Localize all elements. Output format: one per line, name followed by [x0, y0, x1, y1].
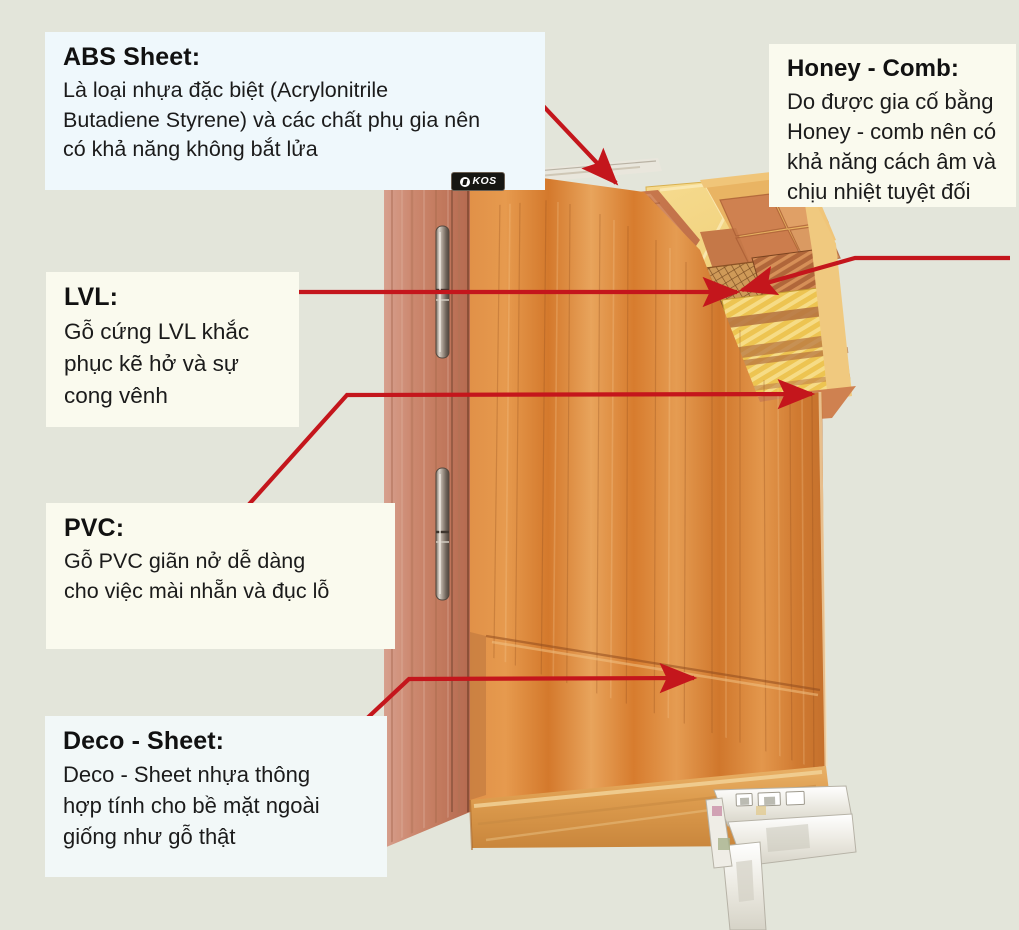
diagram-canvas: KOS ABS Sheet: Là loại nhựa đặc biệt (Ac… [0, 0, 1019, 930]
callout-honey-comb: Honey - Comb: Do được gia cố bằng Honey … [769, 44, 1016, 207]
callout-abs-body: Là loại nhựa đặc biệt (Acrylonitrile But… [63, 76, 529, 164]
callout-deco-sheet: Deco - Sheet: Deco - Sheet nhựa thông hợ… [45, 716, 387, 877]
callout-pvc: PVC: Gỗ PVC giãn nở dễ dàng cho việc mài… [46, 503, 395, 649]
callout-lvl-line-3: cong vênh [64, 380, 283, 412]
callout-pvc-line-1: Gỗ PVC giãn nở dễ dàng [64, 547, 379, 576]
callout-honey-line-3: khả năng cách âm và [787, 147, 1000, 177]
callout-honey-body: Do được gia cố bằng Honey - comb nên có … [787, 87, 1000, 207]
callout-deco-body: Deco - Sheet nhựa thông hợp tính cho bề … [63, 760, 371, 852]
callout-honey-line-4: chịu nhiệt tuyệt đối [787, 177, 1000, 207]
callout-abs-title: ABS Sheet: [63, 42, 529, 73]
pvc-threshold-profile [706, 786, 856, 930]
callout-honey-line-2: Honey - comb nên có [787, 117, 1000, 147]
callout-lvl: LVL: Gỗ cứng LVL khắc phục kẽ hở và sự c… [46, 272, 299, 427]
kos-brand-badge: KOS [452, 173, 504, 190]
callout-honey-line-1: Do được gia cố bằng [787, 87, 1000, 117]
callout-deco-line-2: hợp tính cho bề mặt ngoài [63, 791, 371, 822]
callout-abs-sheet: ABS Sheet: Là loại nhựa đặc biệt (Acrylo… [45, 32, 545, 190]
callout-honey-title: Honey - Comb: [787, 54, 1000, 84]
callout-deco-line-1: Deco - Sheet nhựa thông [63, 760, 371, 791]
kos-brand-text: KOS [473, 176, 497, 187]
callout-deco-title: Deco - Sheet: [63, 726, 371, 757]
door-left-stile [384, 152, 470, 848]
callout-pvc-line-2: cho việc mài nhẵn và đục lỗ [64, 577, 379, 606]
callout-abs-line-3: có khả năng không bắt lửa [63, 135, 529, 164]
callout-lvl-line-2: phục kẽ hở và sự [64, 348, 283, 380]
callout-pvc-title: PVC: [64, 513, 379, 544]
callout-deco-line-3: giống như gỗ thật [63, 822, 371, 853]
callout-pvc-body: Gỗ PVC giãn nở dễ dàng cho việc mài nhẵn… [64, 547, 379, 606]
kos-logo-icon [460, 177, 470, 187]
callout-abs-line-1: Là loại nhựa đặc biệt (Acrylonitrile [63, 76, 529, 105]
callout-lvl-body: Gỗ cứng LVL khắc phục kẽ hở và sự cong v… [64, 316, 283, 412]
door-hinge-upper [436, 226, 449, 358]
door-hinge-lower [436, 468, 449, 600]
callout-lvl-title: LVL: [64, 282, 283, 313]
callout-lvl-line-1: Gỗ cứng LVL khắc [64, 316, 283, 348]
callout-abs-line-2: Butadiene Styrene) và các chất phụ gia n… [63, 106, 529, 135]
